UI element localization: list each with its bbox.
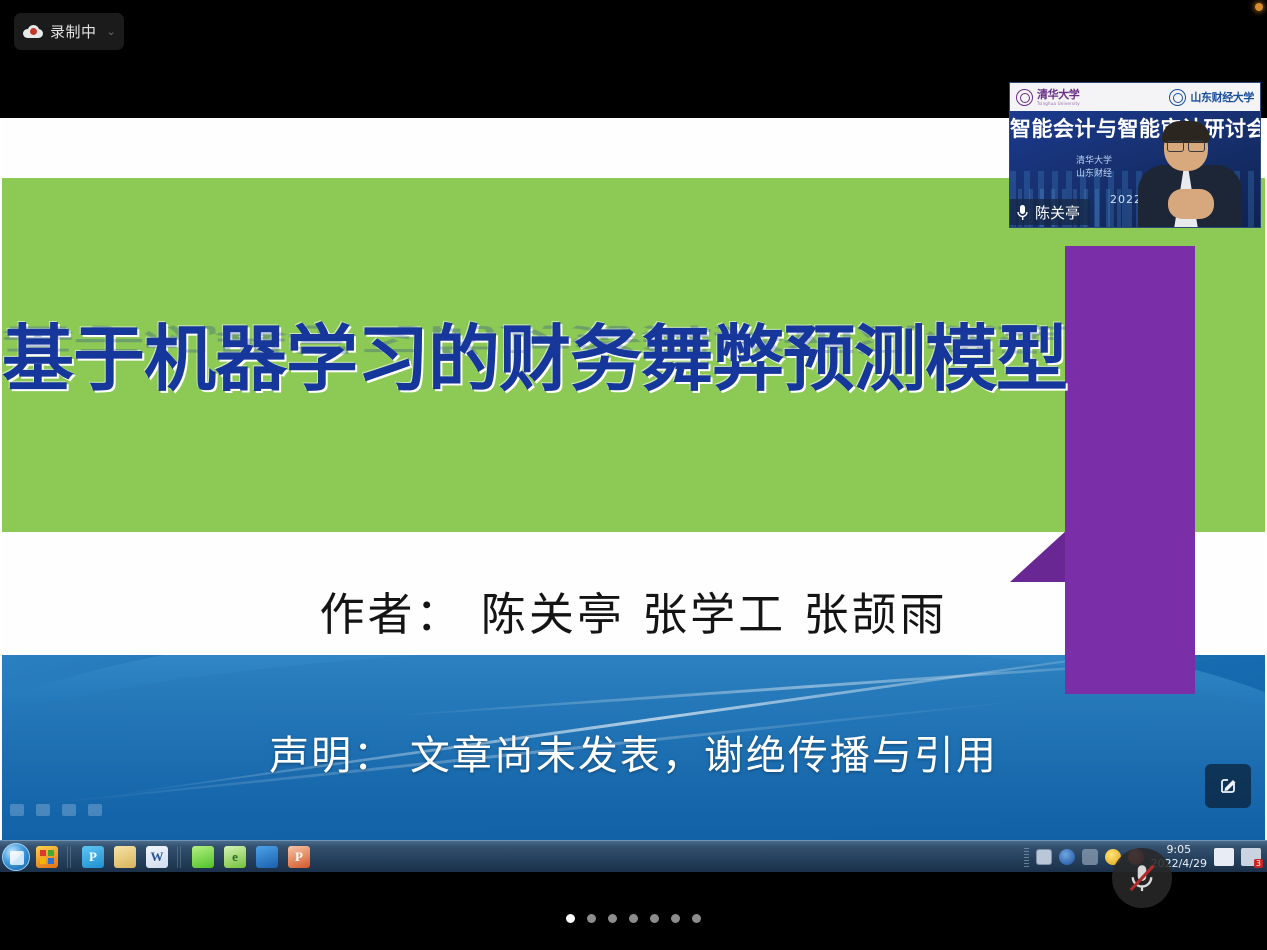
- page-dot-5[interactable]: [650, 914, 659, 923]
- taskbar-icon-app[interactable]: [32, 844, 62, 870]
- taskbar-icon-microsoft-word[interactable]: W: [142, 844, 172, 870]
- slide-purple-shadow: [1010, 529, 1068, 582]
- conference-banner-subtitle: 清华大学山东财经: [1076, 155, 1112, 181]
- tray-updates-icon[interactable]: 3: [1241, 848, 1261, 866]
- ppt-control-menu[interactable]: [62, 804, 76, 816]
- pagination-dots[interactable]: [0, 914, 1267, 923]
- windows-taskbar[interactable]: P W e P 9:05 2022/4/29 3: [0, 840, 1267, 872]
- taskbar-icon-cloud-drive[interactable]: [252, 844, 282, 870]
- microphone-muted-icon: [1125, 861, 1159, 895]
- tsinghua-seal-icon: [1016, 89, 1033, 106]
- ppt-control-next[interactable]: [88, 804, 102, 816]
- taskbar-icon-pp-assistant[interactable]: P: [78, 844, 108, 870]
- status-dot: [1255, 3, 1263, 11]
- taskbar-separator-2: [177, 846, 183, 868]
- meeting-screen: 录制中 ⌄ 基于机器学习的财务舞弊预测模型 基于机器学习的财务舞弊预测模型 作者…: [0, 0, 1267, 950]
- microphone-mute-button[interactable]: [1112, 848, 1172, 908]
- page-title: 基于机器学习的财务舞弊预测模型: [2, 300, 1062, 405]
- cloud-record-icon: [23, 25, 43, 39]
- tray-badge-count: 3: [1254, 859, 1263, 868]
- taskbar-icon-wechat[interactable]: [188, 844, 218, 870]
- speaker-name: 陈关亭: [1035, 202, 1080, 223]
- ppt-presenter-controls[interactable]: [10, 804, 102, 816]
- taskbar-separator: [67, 846, 73, 868]
- tsinghua-logo-subtitle: Tsinghua University: [1037, 101, 1080, 106]
- tray-help-icon[interactable]: [1059, 849, 1075, 865]
- page-dot-2[interactable]: [587, 914, 596, 923]
- microphone-icon: [1016, 204, 1029, 221]
- tray-message-icon[interactable]: [1214, 848, 1234, 866]
- speaker-name-badge: 陈关亭: [1010, 199, 1090, 225]
- sdufe-seal-icon: [1169, 89, 1186, 106]
- page-dot-1[interactable]: [566, 914, 575, 923]
- slide-disclaimer: 声明： 文章尚未发表，谢绝传播与引用: [2, 723, 1265, 781]
- annotation-pen-button[interactable]: [1205, 764, 1251, 808]
- tray-display-icon[interactable]: [1036, 849, 1052, 865]
- recording-indicator[interactable]: 录制中 ⌄: [14, 13, 124, 50]
- video-logo-bar: 清华大学 Tsinghua University 山东财经大学: [1010, 83, 1260, 111]
- tray-expander[interactable]: [1024, 847, 1029, 867]
- taskbar-icon-file-explorer[interactable]: [110, 844, 140, 870]
- speaker-video-tile[interactable]: 清华大学 Tsinghua University 山东财经大学 智能会计与智能审…: [1009, 82, 1261, 228]
- taskbar-icon-powerpoint[interactable]: P: [284, 844, 314, 870]
- tray-network-icon[interactable]: [1082, 849, 1098, 865]
- page-dot-6[interactable]: [671, 914, 680, 923]
- ppt-control-prev[interactable]: [10, 804, 24, 816]
- slide-authors: 作者： 陈关亭 张学工 张颉雨: [2, 578, 1265, 643]
- tsinghua-logo-name: 清华大学: [1037, 89, 1080, 100]
- chevron-down-icon[interactable]: ⌄: [107, 25, 116, 38]
- sdufe-logo-name: 山东财经大学: [1190, 92, 1254, 103]
- speaker-figure: [1134, 123, 1246, 228]
- taskbar-icon-internet-explorer[interactable]: e: [220, 844, 250, 870]
- page-dot-3[interactable]: [608, 914, 617, 923]
- tsinghua-logo: 清华大学 Tsinghua University: [1016, 89, 1080, 106]
- recording-label: 录制中: [50, 21, 97, 42]
- sdufe-logo: 山东财经大学: [1169, 89, 1254, 106]
- page-dot-7[interactable]: [692, 914, 701, 923]
- page-dot-4[interactable]: [629, 914, 638, 923]
- start-button[interactable]: [2, 843, 30, 871]
- ppt-control-pen[interactable]: [36, 804, 50, 816]
